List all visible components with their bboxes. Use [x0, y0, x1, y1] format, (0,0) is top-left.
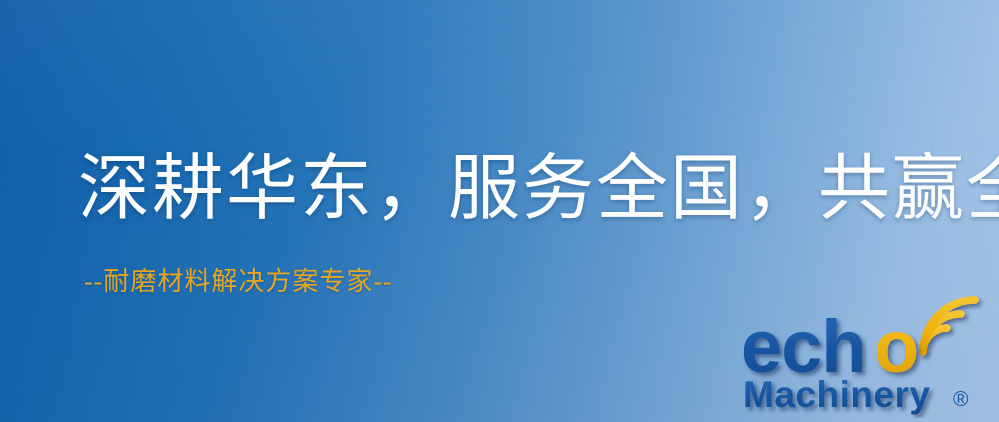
- echo-machinery-logo: ech o Machinery ®: [741, 290, 991, 418]
- logo-tagline: Machinery: [743, 374, 931, 415]
- trademark-symbol: ®: [953, 388, 969, 411]
- banner-subtitle: --耐磨材料解决方案专家--: [84, 266, 393, 298]
- svg-text:Machinery: Machinery: [743, 374, 931, 415]
- banner-headline: 深耕华东，服务全国，共赢全球: [78, 146, 999, 232]
- svg-text:®: ®: [953, 388, 969, 411]
- logo-artwork: ech o Machinery ®: [741, 290, 991, 418]
- hero-banner: 深耕华东，服务全国，共赢全球 --耐磨材料解决方案专家--: [0, 0, 999, 422]
- signal-arcs-icon: [923, 300, 975, 352]
